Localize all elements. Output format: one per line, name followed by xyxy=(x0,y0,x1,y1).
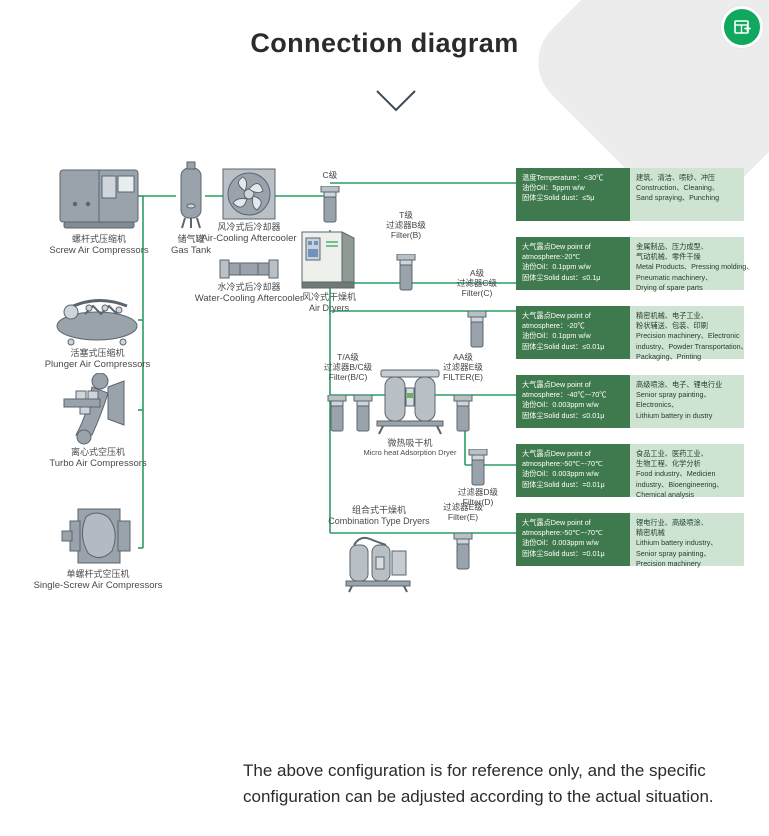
caption-plunger-compressor: 活塞式压缩机 Plunger Air Compressors xyxy=(23,348,173,370)
caption-micro-heat-dryer: 微热吸干机 Micro heat Adsorption Dryer xyxy=(335,438,485,457)
spec-row-6-applications: 锂电行业、高级喷涂、 精密机械 Lithium battery industry… xyxy=(630,513,744,566)
spec-row-3-conditions: 大气露点Dew point of atmosphere：-20℃ 油份Oil：0… xyxy=(516,306,630,359)
caption-air-dryer: 风冷式干燥机 Air Dryers xyxy=(254,292,404,313)
equipment-combination-type-dryer: 组合式干燥机 Combination Type Dryers xyxy=(340,531,418,598)
spec-row-1-applications: 建筑、清洁、喷砂、冲压 Construction、Cleaning、 Sand … xyxy=(630,168,744,221)
equipment-air-dryer: 风冷式干燥机 Air Dryers xyxy=(300,228,358,295)
equipment-screw-compressor: 螺杆式压缩机 Screw Air Compressors xyxy=(58,168,140,237)
equipment-air-cooling-aftercooler: 风冷式后冷却器 Air-Cooling Aftercooler xyxy=(222,168,276,225)
spec-row-2: 大气露点Dew point of atmosphere:-20℃ 油份Oil：0… xyxy=(516,237,744,290)
spec-row-5-conditions: 大气露点Dew point of atmosphere:-50℃~-70℃ 油份… xyxy=(516,444,630,497)
spec-row-3-applications: 精密机械、电子工业、 粉状辅送、包装、印刷 Precision machiner… xyxy=(630,306,744,359)
equipment-turbo-compressor: 离心式空压机 Turbo Air Compressors xyxy=(58,373,138,450)
spec-row-4-applications: 高级喷涂、电子、锂电行业 Senior spray painting、 Elec… xyxy=(630,375,744,428)
filter-b: T级 过滤器B级 Filter(B) xyxy=(394,254,418,297)
caption-combination-type-dryer: 组合式干燥机 Combination Type Dryers xyxy=(304,505,454,526)
table-grid-icon[interactable] xyxy=(721,6,763,48)
equipment-water-cooling-aftercooler: 水冷式后冷却器 Water-Cooling Aftercooler xyxy=(218,258,280,285)
page-title: Connection diagram xyxy=(0,28,769,59)
spec-row-1-conditions: 温度Temperature：<30℃ 油份Oil：5ppm w/w 固体尘Sol… xyxy=(516,168,630,221)
filter-c-top-label: C级 xyxy=(285,170,375,180)
caption-turbo-compressor: 离心式空压机 Turbo Air Compressors xyxy=(23,447,173,469)
spec-row-5-applications: 食品工业、医药工业、 生物工程、化学分析 Food industry、Medic… xyxy=(630,444,744,497)
spec-row-6-conditions: 大气露点Dew point of atmosphere:-50℃~-70℃ 油份… xyxy=(516,513,630,566)
footnote-text: The above configuration is for reference… xyxy=(243,758,758,811)
spec-row-2-applications: 金属制品、压力成型、 气动机械、零件干燥 Metal Products、Pres… xyxy=(630,237,744,290)
spec-row-2-conditions: 大气露点Dew point of atmosphere:-20℃ 油份Oil：0… xyxy=(516,237,630,290)
filter-c-label: A级 过滤器C级 Filter(C) xyxy=(432,268,522,299)
chevron-down-icon xyxy=(375,88,417,119)
caption-single-screw-compressor: 单螺杆式空压机 Single-Screw Air Compressors xyxy=(23,569,173,591)
filter-e-aa: AA级 过滤器E级 FILTER(E) xyxy=(451,395,475,438)
filter-c: A级 过滤器C级 Filter(C) xyxy=(465,311,489,354)
filter-e: 过滤器E级 Filter(E) xyxy=(451,533,475,576)
equipment-plunger-compressor: 活塞式压缩机 Plunger Air Compressors xyxy=(55,288,140,351)
filter-bc: T/A级 过滤器B/C级 Filter(B/C) xyxy=(326,395,376,438)
filter-b-label: T级 过滤器B级 Filter(B) xyxy=(361,210,451,241)
spec-row-4: 大气露点Dew point of atmosphere：-40℃~-70℃ 油份… xyxy=(516,375,744,428)
spec-row-4-conditions: 大气露点Dew point of atmosphere：-40℃~-70℃ 油份… xyxy=(516,375,630,428)
spec-row-1: 温度Temperature：<30℃ 油份Oil：5ppm w/w 固体尘Sol… xyxy=(516,168,744,221)
spec-row-3: 大气露点Dew point of atmosphere：-20℃ 油份Oil：0… xyxy=(516,306,744,359)
equipment-micro-heat-dryer: 微热吸干机 Micro heat Adsorption Dryer xyxy=(373,368,447,441)
spec-row-6: 大气露点Dew point of atmosphere:-50℃~-70℃ 油份… xyxy=(516,513,744,566)
spec-row-5: 大气露点Dew point of atmosphere:-50℃~-70℃ 油份… xyxy=(516,444,744,497)
filter-c-top: C级 xyxy=(318,186,342,229)
equipment-single-screw-compressor: 单螺杆式空压机 Single-Screw Air Compressors xyxy=(58,505,138,572)
